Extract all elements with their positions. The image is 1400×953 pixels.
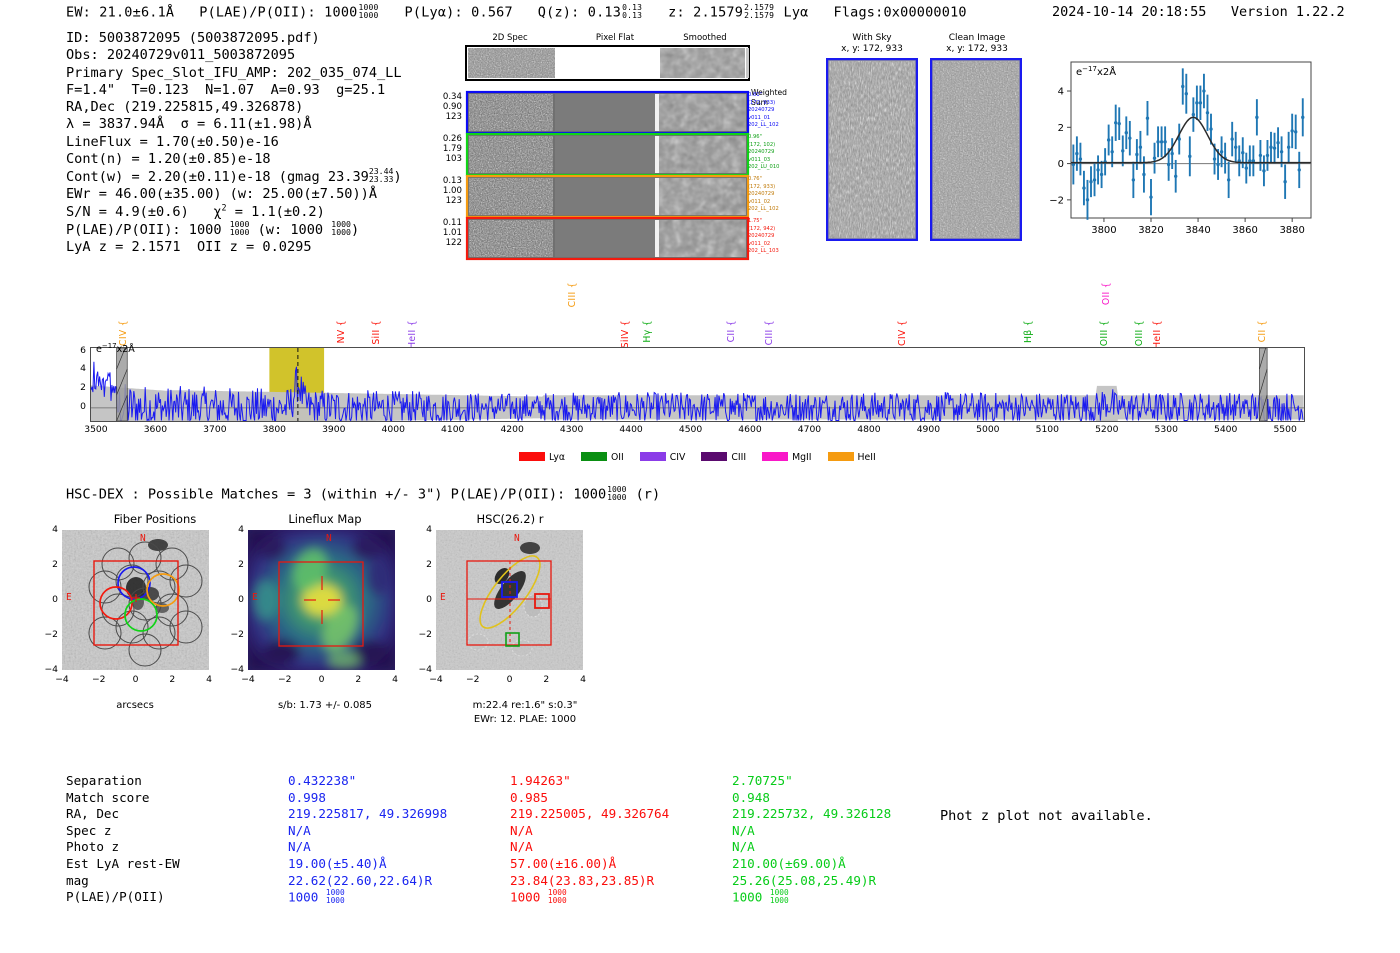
panel-caption-fiber-positions: arcsecs — [70, 700, 200, 711]
header-timestamp-block: 2024-10-14 20:18:55 Version 1.22.2 — [1052, 4, 1345, 20]
header-plae-range: 10001000 — [358, 4, 378, 19]
match-row-label: RA, Dec — [66, 806, 288, 823]
lineflux-map-image — [248, 530, 395, 670]
panel-xtick-lineflux-map: −2 — [271, 674, 299, 685]
spectrum-ytick: 4 — [72, 363, 86, 374]
match-cell: 1.94263" — [510, 773, 732, 790]
compass-n-lineflux: N — [326, 533, 332, 544]
emission-line-label: CII { — [726, 320, 737, 342]
hsc-r-image — [436, 530, 583, 670]
spectrum-xtick: 5000 — [968, 424, 1008, 435]
info-lineflux: LineFlux = 1.70(±0.50)e-16 — [66, 134, 279, 150]
panel-ytick-hsc-r: −2 — [412, 629, 432, 640]
panel-title-lineflux-map: Lineflux Map — [240, 512, 410, 526]
spectrum-xtick: 3900 — [314, 424, 354, 435]
legend-swatch — [828, 452, 854, 461]
emission-line-label: OIII { — [1134, 320, 1145, 346]
panel-title-smoothed: Smoothed — [660, 33, 750, 43]
legend-swatch — [701, 452, 727, 461]
panel-ytick-hsc-r: −4 — [412, 664, 432, 675]
version-label: Version 1.22.2 — [1231, 4, 1345, 20]
match-cell: 19.00(±5.40)Å — [288, 856, 510, 873]
spectrum-xtick: 4300 — [552, 424, 592, 435]
fiber-row-0-values: 0.34 0.90 123 — [436, 92, 462, 123]
info-cont-w: Cont(w) = 2.20(±0.11)e-18 (gmag 23.3923.… — [66, 169, 402, 185]
match-cell: 1000 10001000 — [288, 889, 510, 906]
panel-caption-hsc-r: m:22.4 re:1.6" s:0.3" — [430, 700, 620, 711]
match-row-label: P(LAE)/P(OII) — [66, 889, 288, 906]
emission-line-label: SiII { — [371, 320, 382, 345]
spectrum-xtick: 3800 — [254, 424, 294, 435]
table-row: RA, Dec219.225817, 49.326998219.225005, … — [66, 806, 954, 823]
fiber-positions-image — [62, 530, 209, 670]
cutout-clean-image — [930, 58, 1022, 241]
header-z: z: 2.1579 — [668, 4, 743, 20]
panel-ytick-lineflux-map: −2 — [224, 629, 244, 640]
match-cell: N/A — [732, 839, 954, 856]
match-cell: N/A — [510, 823, 732, 840]
panel-xtick-hsc-r: 2 — [532, 674, 560, 685]
panel-ytick-fiber-positions: 0 — [38, 594, 58, 605]
photoz-note: Phot z plot not available. — [940, 808, 1153, 824]
emission-line-label: SiIV { — [620, 320, 631, 348]
match-cell: 219.225817, 49.326998 — [288, 806, 510, 823]
header-plae-label: P(LAE)/P(OII): 1000 — [199, 4, 357, 20]
match-cell: 1000 10001000 — [732, 889, 954, 906]
compass-n-hsc: N — [514, 533, 520, 544]
panel-ytick-lineflux-map: 2 — [224, 559, 244, 570]
cutout-withsky-image — [826, 58, 918, 241]
fiber-row-3-values: 0.11 1.01 122 — [436, 218, 462, 249]
panel-ytick-fiber-positions: −2 — [38, 629, 58, 640]
emission-line-label: OII { — [1101, 282, 1112, 305]
panel-ytick-lineflux-map: −4 — [224, 664, 244, 675]
header-qz: Q(z): 0.13 — [538, 4, 621, 20]
panel-xtick-lineflux-map: 2 — [344, 674, 372, 685]
match-cell: 57.00(±16.00)Å — [510, 856, 732, 873]
summary-header: EW: 21.0±6.1Å P(LAE)/P(OII): 10001000100… — [66, 4, 967, 20]
table-row: P(LAE)/P(OII)1000 100010001000 100010001… — [66, 889, 954, 906]
spectrum-xtick: 4500 — [671, 424, 711, 435]
spectrum-ytick: 6 — [72, 345, 86, 356]
match-cell: 2.70725" — [732, 773, 954, 790]
match-row-label: mag — [66, 873, 288, 890]
match-cell: N/A — [288, 823, 510, 840]
info-sn-chi2: S/N = 4.9(±0.6) χ2 = 1.1(±0.2) — [66, 204, 325, 220]
panel-caption-lineflux-map: s/b: 1.73 +/- 0.085 — [250, 700, 400, 711]
cutout-withsky-title: With Skyx, y: 172, 933 — [822, 33, 922, 55]
panel-title-hsc-r: HSC(26.2) r — [425, 512, 595, 526]
match-cell: N/A — [510, 839, 732, 856]
spectrum-xtick: 4700 — [789, 424, 829, 435]
match-cell: 0.948 — [732, 790, 954, 807]
spectrum-xtick: 3700 — [195, 424, 235, 435]
table-row: Photo zN/AN/AN/A — [66, 839, 954, 856]
emission-line-label: NV { — [336, 320, 347, 343]
panel-xtick-fiber-positions: 4 — [195, 674, 223, 685]
match-row-label: Spec z — [66, 823, 288, 840]
panel-ytick-hsc-r: 2 — [412, 559, 432, 570]
match-cell: 210.00(±69.00)Å — [732, 856, 954, 873]
spectrum-xtick: 4000 — [373, 424, 413, 435]
spectrum-xtick: 4800 — [849, 424, 889, 435]
panel-ytick-hsc-r: 0 — [412, 594, 432, 605]
svg-text:2: 2 — [1058, 123, 1064, 134]
spectrum-xtick: 5100 — [1027, 424, 1067, 435]
match-row-label: Photo z — [66, 839, 288, 856]
match-cell: N/A — [732, 823, 954, 840]
panel-xtick-hsc-r: −4 — [422, 674, 450, 685]
header-ew: EW: 21.0±6.1Å — [66, 4, 174, 20]
panel-title-2dspec: 2D Spec — [465, 33, 555, 43]
header-z-range: 2.15792.1579 — [744, 4, 774, 19]
emission-line-label: CIV { — [897, 320, 908, 346]
panel-ytick-fiber-positions: 2 — [38, 559, 58, 570]
panel-xtick-fiber-positions: −4 — [48, 674, 76, 685]
header-qz-range: 0.130.13 — [622, 4, 642, 19]
info-obs: Obs: 20240729v011_5003872095 — [66, 47, 295, 63]
svg-text:e−17x2Å: e−17x2Å — [1076, 65, 1116, 78]
spectrum-xtick: 5500 — [1265, 424, 1305, 435]
compass-e-fiber: E — [66, 592, 72, 603]
panel-xtick-fiber-positions: 0 — [122, 674, 150, 685]
match-cell: 22.62(22.60,22.64)R — [288, 873, 510, 890]
match-table: Separation0.432238"1.94263"2.70725"Match… — [66, 773, 954, 906]
legend-swatch — [581, 452, 607, 461]
match-row-label: Est LyA rest-EW — [66, 856, 288, 873]
spectrum-ytick: 2 — [72, 382, 86, 393]
panel-ytick-lineflux-map: 0 — [224, 594, 244, 605]
emission-line-label: Hβ { — [1023, 320, 1034, 343]
compass-e-hsc: E — [440, 592, 446, 603]
emission-line-label: Hγ { — [642, 320, 653, 343]
spectrum-xtick: 3600 — [135, 424, 175, 435]
info-id: ID: 5003872095 (5003872095.pdf) — [66, 30, 320, 46]
panel-ytick-lineflux-map: 4 — [224, 524, 244, 535]
fiber-row-2-values: 0.13 1.00 123 — [436, 176, 462, 207]
match-cell: 23.84(23.83,23.85)R — [510, 873, 732, 890]
info-cont-n: Cont(n) = 1.20(±0.85)e-18 — [66, 151, 271, 167]
emission-line-label: OIII { — [1099, 320, 1110, 346]
panel-xtick-hsc-r: 0 — [496, 674, 524, 685]
match-cell: 0.985 — [510, 790, 732, 807]
panel-xtick-lineflux-map: −4 — [234, 674, 262, 685]
table-row: Match score0.9980.9850.948 — [66, 790, 954, 807]
spectrum-2d-panel: 2D Spec Pixel Flat Smoothed — [465, 33, 765, 258]
match-cell: 25.26(25.08,25.49)R — [732, 873, 954, 890]
compass-n-fiber: N — [140, 533, 146, 544]
spectrum-xtick: 4200 — [492, 424, 532, 435]
panel-xtick-hsc-r: 4 — [569, 674, 597, 685]
legend-swatch — [762, 452, 788, 461]
fiber-row-1-values: 0.26 1.79 103 — [436, 134, 462, 165]
spectrum-xtick: 4600 — [730, 424, 770, 435]
line-fit-plot: 38003820384038603880−2024e−17x2Å — [1035, 50, 1320, 260]
spectrum-flux-annotation: e−17x2Å — [96, 342, 135, 355]
spectrum-2d-canvas — [465, 45, 765, 295]
match-row-label: Match score — [66, 790, 288, 807]
svg-text:−2: −2 — [1049, 195, 1064, 206]
match-cell: 1000 10001000 — [510, 889, 732, 906]
info-radec: RA,Dec (219.225815,49.326878) — [66, 99, 303, 115]
emission-line-label: HeII { — [1152, 320, 1163, 349]
panel-title-pixelflat: Pixel Flat — [575, 33, 655, 43]
info-lambda: λ = 3837.94Å σ = 6.11(±1.98)Å — [66, 116, 312, 132]
fiber-row-1-meta: 0.96" (172, 102) 20240729 v011_03 202_LU… — [748, 134, 779, 172]
legend-label: HeII — [858, 452, 876, 463]
spectrum-ytick: 0 — [72, 401, 86, 412]
fiber-row-2-meta: 0.76" (172, 933) 20240729 v011_02 202_LL… — [748, 176, 779, 214]
match-cell: 0.998 — [288, 790, 510, 807]
spectrum-xtick: 4900 — [908, 424, 948, 435]
fiber-row-3-meta: 1.75" (172, 942) 20240729 v011_02 202_LL… — [748, 218, 779, 256]
emission-line-label: CIII { — [764, 320, 775, 345]
info-seeing: F=1.4" T=0.123 N=1.07 A=0.93 g=25.1 — [66, 82, 385, 98]
info-primary-amp: Primary Spec_Slot_IFU_AMP: 202_035_074_L… — [66, 65, 402, 81]
legend-label: OII — [611, 452, 624, 463]
svg-text:3860: 3860 — [1232, 225, 1257, 236]
panel-xtick-lineflux-map: 0 — [308, 674, 336, 685]
timestamp: 2024-10-14 20:18:55 — [1052, 4, 1206, 20]
svg-text:3800: 3800 — [1091, 225, 1116, 236]
panel-xtick-fiber-positions: −2 — [85, 674, 113, 685]
header-flags: Flags:0x00000010 — [834, 4, 967, 20]
legend-swatch — [519, 452, 545, 461]
header-z-line: Lyα — [784, 4, 809, 20]
svg-text:3880: 3880 — [1279, 225, 1304, 236]
match-cell: N/A — [288, 839, 510, 856]
svg-text:4: 4 — [1058, 87, 1064, 98]
spectrum-xtick: 5400 — [1206, 424, 1246, 435]
spectrum-xtick: 5200 — [1087, 424, 1127, 435]
panel-xtick-hsc-r: −2 — [459, 674, 487, 685]
table-row: mag22.62(22.60,22.64)R23.84(23.83,23.85)… — [66, 873, 954, 890]
info-redshifts: LyA z = 2.1571 OII z = 0.0295 — [66, 239, 312, 255]
legend-swatch — [640, 452, 666, 461]
panel-ytick-fiber-positions: 4 — [38, 524, 58, 535]
spectrum-xtick: 4400 — [611, 424, 651, 435]
header-plya: P(Lyα): 0.567 — [405, 4, 513, 20]
hsc-dex-headline: HSC-DEX : Possible Matches = 3 (within +… — [66, 486, 660, 502]
detection-info-block: ID: 5003872095 (5003872095.pdf) Obs: 202… — [66, 30, 402, 256]
table-row: Separation0.432238"1.94263"2.70725" — [66, 773, 954, 790]
cutout-clean-title: Clean Imagex, y: 172, 933 — [922, 33, 1032, 55]
legend-label: Lyα — [549, 452, 565, 463]
match-cell: 0.432238" — [288, 773, 510, 790]
panel-ytick-fiber-positions: −4 — [38, 664, 58, 675]
match-row-label: Separation — [66, 773, 288, 790]
legend-label: MgII — [792, 452, 811, 463]
full-spectrum-plot — [90, 347, 1305, 422]
emission-line-label: HeII { — [407, 320, 418, 349]
panel-xtick-fiber-positions: 2 — [158, 674, 186, 685]
legend-label: CIV — [670, 452, 686, 463]
panel-title-fiber-positions: Fiber Positions — [60, 512, 250, 526]
panel-xtick-lineflux-map: 4 — [381, 674, 409, 685]
legend-label: CIII — [731, 452, 746, 463]
match-cell: 219.225005, 49.326764 — [510, 806, 732, 823]
svg-text:3820: 3820 — [1138, 225, 1163, 236]
spectrum-xtick: 5300 — [1146, 424, 1186, 435]
table-row: Spec zN/AN/AN/A — [66, 823, 954, 840]
spectrum-xtick: 3500 — [76, 424, 116, 435]
panel-ytick-hsc-r: 4 — [412, 524, 432, 535]
spectrum-xtick: 4100 — [433, 424, 473, 435]
info-ewr: EWr = 46.00(±35.00) (w: 25.00(±7.50))Å — [66, 186, 377, 202]
svg-text:3840: 3840 — [1185, 225, 1210, 236]
info-plae: P(LAE)/P(OII): 1000 10001000 (w: 1000 10… — [66, 222, 359, 238]
panel-caption-hsc-r-2: EWr: 12. PLAE: 1000 — [430, 714, 620, 725]
fiber-row-0-meta: 0.81" (172, 933) 20240729 v011_01 202_LL… — [748, 92, 779, 130]
table-row: Est LyA rest-EW19.00(±5.40)Å57.00(±16.00… — [66, 856, 954, 873]
match-cell: 219.225732, 49.326128 — [732, 806, 954, 823]
emission-line-label: CII { — [1257, 320, 1268, 342]
svg-text:0: 0 — [1058, 159, 1064, 170]
emission-line-legend: LyαOIICIVCIIIMgIIHeII — [519, 452, 892, 463]
compass-e-lineflux: E — [252, 592, 258, 603]
